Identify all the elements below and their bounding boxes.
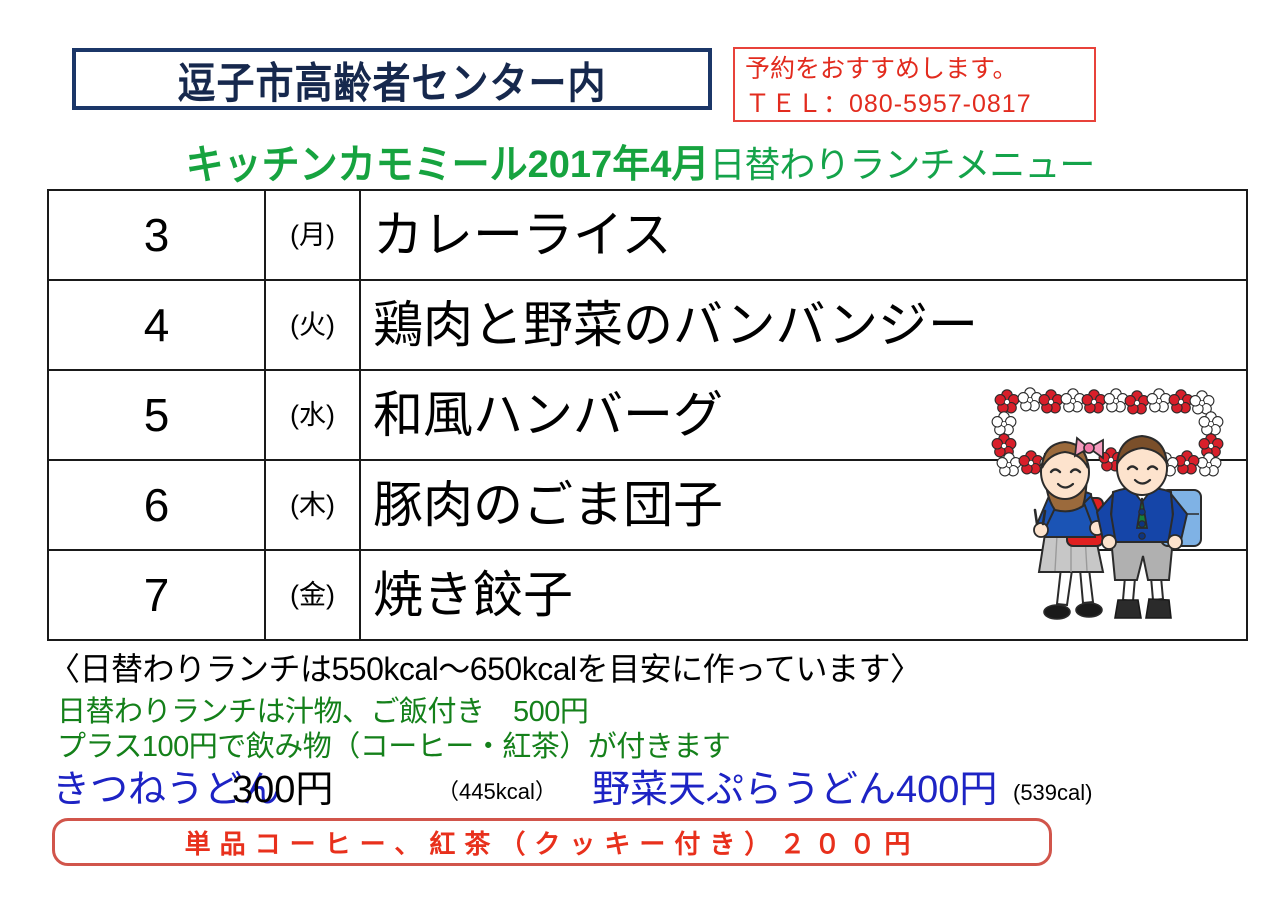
menu-dish-cell: カレーライス xyxy=(360,190,1247,280)
menu-dish-cell: 豚肉のごま団子 xyxy=(360,460,1247,550)
tempura-udon-name-price: 野菜天ぷらうどん400円 xyxy=(592,758,997,813)
menu-day-cell: 5 xyxy=(48,370,265,460)
kitsune-udon-calories: （445kcal） xyxy=(437,774,557,806)
shop-name: キッチンカモミール xyxy=(186,131,528,190)
menu-dayofweek: (水) xyxy=(290,400,335,430)
menu-dayofweek: (月) xyxy=(290,220,335,250)
menu-dayofweek: (金) xyxy=(290,580,335,610)
reservation-box: 予約をおすすめします。 ＴＥＬ：080-5957-0817 xyxy=(733,47,1096,122)
table-row: 7 (金) 焼き餃子 xyxy=(48,550,1247,640)
menu-dish: 豚肉のごま団子 xyxy=(373,477,723,533)
menu-dish-cell: 和風ハンバーグ xyxy=(360,370,1247,460)
table-row: 3 (月) カレーライス xyxy=(48,190,1247,280)
header: 逗子市高齢者センター内 予約をおすすめします。 ＴＥＬ：080-5957-081… xyxy=(0,0,1280,132)
daily-lunch-menu-table: 3 (月) カレーライス 4 (火) 鶏肉と野菜のバンバンジー 5 xyxy=(47,189,1248,641)
menu-table-body: 3 (月) カレーライス 4 (火) 鶏肉と野菜のバンバンジー 5 xyxy=(48,190,1247,640)
table-row: 6 (木) 豚肉のごま団子 xyxy=(48,460,1247,550)
kitsune-udon-price: 300円 xyxy=(232,758,333,813)
menu-dow-cell: (木) xyxy=(265,460,360,550)
menu-day-cell: 6 xyxy=(48,460,265,550)
menu-day: 7 xyxy=(144,569,170,621)
menu-dish: 焼き餃子 xyxy=(373,567,573,623)
menu-day-cell: 3 xyxy=(48,190,265,280)
menu-day-cell: 7 xyxy=(48,550,265,640)
calorie-range-note: 〈日替わりランチは550kcal〜650kcalを目安に作っています〉 xyxy=(48,644,922,690)
menu-dish: カレーライス xyxy=(373,207,672,263)
venue-title: 逗子市高齢者センター内 xyxy=(177,48,606,110)
menu-dayofweek: (木) xyxy=(290,490,335,520)
menu-dish: 鶏肉と野菜のバンバンジー xyxy=(373,297,978,353)
tempura-udon-calories: (539cal) xyxy=(1013,780,1092,806)
menu-day: 6 xyxy=(144,479,170,531)
menu-day-cell: 4 xyxy=(48,280,265,370)
menu-dow-cell: (月) xyxy=(265,190,360,280)
menu-dow-cell: (金) xyxy=(265,550,360,640)
udon-price-row: きつねうどん 300円 （445kcal） 野菜天ぷらうどん400円 (539c… xyxy=(0,758,1280,806)
menu-subtitle: 日替わりランチメニュー xyxy=(709,136,1094,188)
menu-day: 3 xyxy=(144,209,170,261)
telephone-number: ＴＥＬ：080-5957-0817 xyxy=(745,87,1094,122)
menu-dayofweek: (火) xyxy=(290,310,335,340)
table-row: 5 (水) 和風ハンバーグ xyxy=(48,370,1247,460)
menu-dish-cell: 焼き餃子 xyxy=(360,550,1247,640)
menu-headline: キッチンカモミール 2017年4月日替わりランチメニュー xyxy=(0,133,1280,188)
menu-dow-cell: (水) xyxy=(265,370,360,460)
menu-day: 5 xyxy=(144,389,170,441)
menu-period: 2017年4月 xyxy=(528,133,710,188)
menu-dish: 和風ハンバーグ xyxy=(373,387,723,443)
coffee-offer-text: 単品コーヒー、紅茶（クッキー付き）２００円 xyxy=(185,824,920,861)
venue-title-box: 逗子市高齢者センター内 xyxy=(72,48,712,110)
menu-dow-cell: (火) xyxy=(265,280,360,370)
menu-dish-cell: 鶏肉と野菜のバンバンジー xyxy=(360,280,1247,370)
coffee-offer-box: 単品コーヒー、紅茶（クッキー付き）２００円 xyxy=(52,818,1052,866)
reservation-note: 予約をおすすめします。 xyxy=(745,52,1094,87)
menu-day: 4 xyxy=(144,299,170,351)
table-row: 4 (火) 鶏肉と野菜のバンバンジー xyxy=(48,280,1247,370)
